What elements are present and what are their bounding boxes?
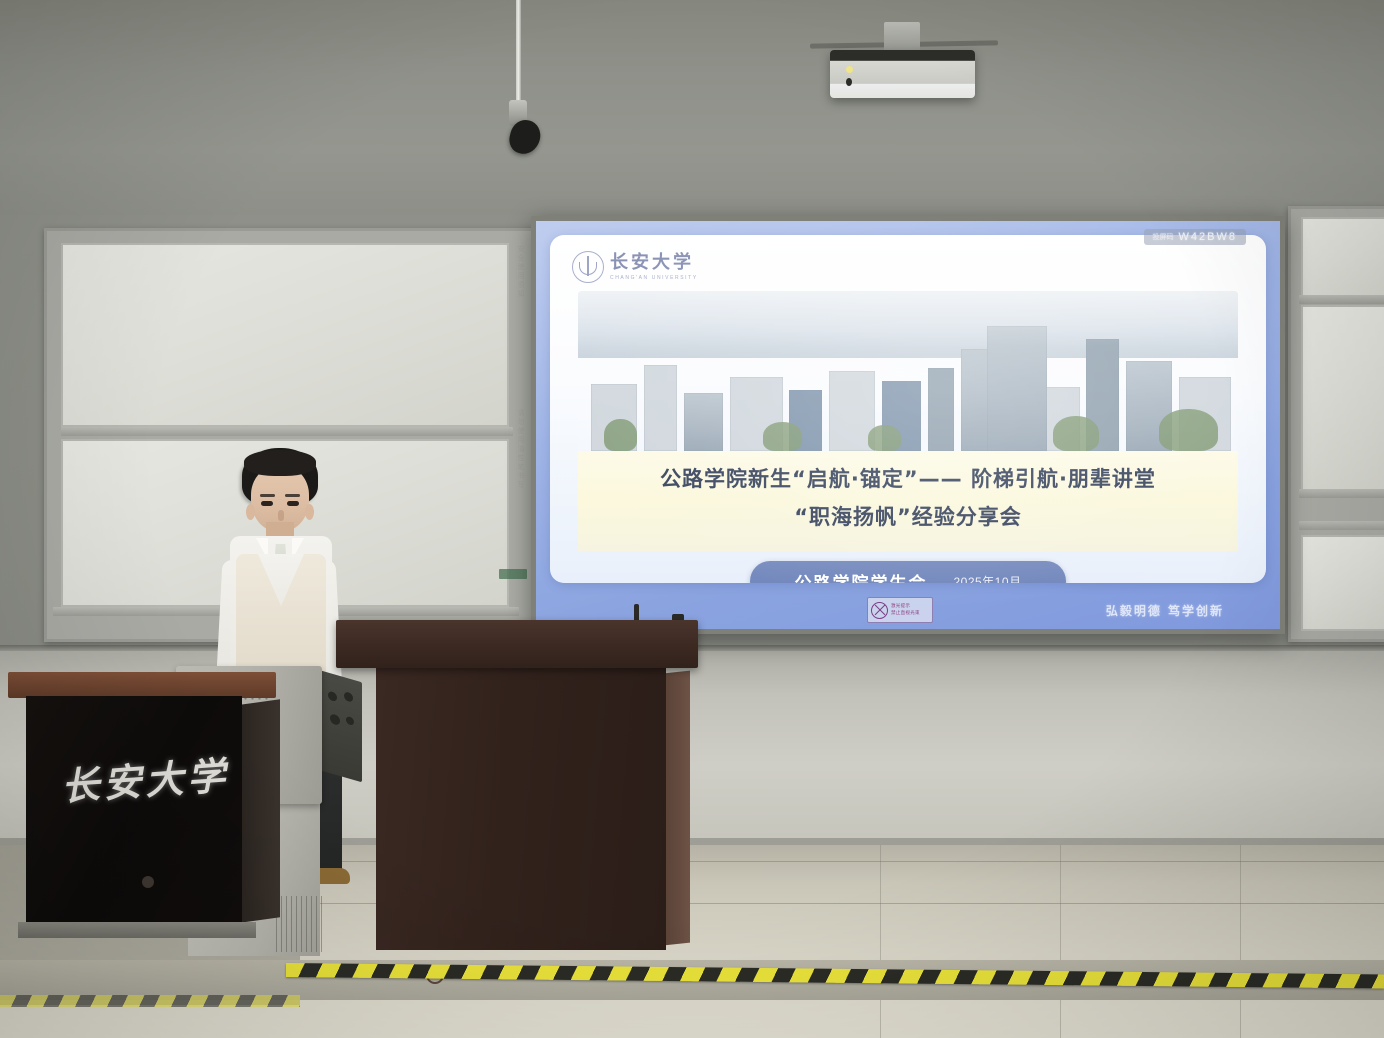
whiteboard-left-upper-panel (61, 243, 509, 427)
slide-title-line-2: “职海扬帆”经验分享会 (578, 490, 1238, 528)
side-table-front: 长安大学 (26, 696, 242, 926)
whiteboard-left-tag (499, 569, 527, 579)
event-date: 2025年10月 (953, 573, 1021, 584)
classroom-photo: 安全使用须知 请勿使用油性笔书写 长安大学 CHANG'AN UNIVERSIT… (0, 0, 1384, 1038)
presenter-fringe (244, 450, 316, 476)
campus-photo (578, 291, 1238, 451)
side-table-base (18, 922, 256, 938)
whiteboard-left-rail-top (61, 427, 513, 436)
whiteboard-right-mid-panel (1301, 305, 1384, 491)
laser-warning-sticker: 激光提示 禁止直视光束 (867, 597, 933, 623)
whiteboard-left-side-text-2: 请勿使用油性笔书写 (515, 409, 525, 549)
warning-text: 激光提示 禁止直视光束 (891, 603, 920, 616)
side-table-knob (142, 876, 154, 888)
logo-name-cn: 长安大学 (610, 254, 698, 272)
no-look-laser-icon (871, 602, 888, 619)
slide-organizer-pill: 公路学院学生会 2025年10月 (750, 561, 1066, 583)
projection-screen: 长安大学 CHANG'AN UNIVERSITY (531, 216, 1285, 634)
slide-title-line-1: 公路学院新生“启航·锚定”—— 阶梯引航·朋辈讲堂 (578, 451, 1238, 490)
projector-code-value: W42BW8 (1179, 231, 1237, 243)
lectern-top (336, 620, 698, 668)
whiteboard-left-side-text: 安全使用须知 (515, 245, 525, 365)
logo-name-en: CHANG'AN UNIVERSITY (610, 275, 698, 281)
riser-hazard-tape (0, 995, 300, 1007)
projector-code-badge: 投屏码 W42BW8 (1144, 229, 1246, 245)
lectern-body (376, 666, 666, 950)
upper-wall (0, 0, 1384, 215)
projector-code-label: 投屏码 (1153, 232, 1174, 242)
slide-title-band: 公路学院新生“启航·锚定”—— 阶梯引航·朋辈讲堂 “职海扬帆”经验分享会 (578, 451, 1238, 551)
microphone-pole (516, 0, 521, 108)
whiteboard-right-rail-3 (1299, 521, 1384, 530)
side-table-top (8, 672, 276, 698)
university-seal-icon (572, 251, 604, 283)
whiteboard-right-lower-panel (1301, 535, 1384, 631)
projected-slide: 长安大学 CHANG'AN UNIVERSITY (536, 221, 1280, 629)
lectern (336, 620, 698, 950)
warning-line-2: 禁止直视光束 (891, 610, 920, 617)
whiteboard-right-rail-1 (1299, 295, 1384, 304)
slide-content-card: 长安大学 CHANG'AN UNIVERSITY (550, 235, 1266, 583)
side-table-calligraphy: 长安大学 (59, 744, 241, 842)
side-table: 长安大学 (8, 672, 298, 954)
university-motto: 弘毅明德 笃学创新 (1106, 602, 1224, 619)
ceiling-projector-icon (830, 50, 975, 98)
photo-overlay (578, 291, 1238, 451)
whiteboard-right-frame (1288, 206, 1384, 642)
vest-v-neck (258, 554, 304, 606)
whiteboard-right-upper-panel (1301, 217, 1384, 297)
organizer-name: 公路学院学生会 (794, 569, 927, 584)
whiteboard-right-rail-2 (1299, 489, 1384, 498)
university-logo: 长安大学 CHANG'AN UNIVERSITY (572, 251, 698, 283)
lectern-side (664, 671, 690, 946)
side-table-right-face (240, 699, 280, 923)
